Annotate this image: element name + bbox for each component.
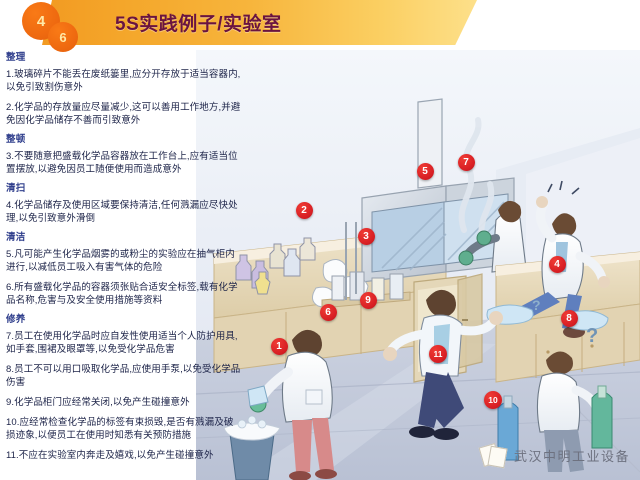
rule-item: 7.员工在使用化学品时应自发性使用适当个人防护用具,如手套,围裙及眼罩等,以免受…	[6, 330, 242, 356]
rule-item: 10.应经常检查化学品的标签有束损毁,是否有溅漏及破损迹象,以便员工在使用时知悉…	[6, 416, 242, 442]
company-name: 武汉中明工业设备	[514, 446, 630, 465]
illustration-marker-5: 5	[417, 163, 434, 180]
svg-text:?: ?	[532, 297, 541, 313]
section-heading: 清扫	[6, 183, 242, 195]
illustration-marker-7: 7	[458, 154, 475, 171]
rule-item: 11.不应在实验室内奔走及嬉戏,以免产生碰撞意外	[6, 449, 242, 462]
rules-section: 整顿3.不要随意把盛载化学品容器放在工作台上,应有适当位置摆放,以避免因员工随便…	[6, 134, 242, 176]
illustration-marker-6: 6	[320, 304, 337, 321]
rules-text-column: 整理1.玻璃碎片不能丢在废纸篓里,应分开存放于适当容器内,以免引致割伤意外2.化…	[6, 52, 242, 476]
svg-text:?: ?	[586, 325, 598, 347]
illustration-marker-1: 1	[271, 338, 288, 355]
rules-section: 清洁5.凡可能产生化学品烟雾的或粉尘的实验应在抽气柜内进行,以减低员工吸入有害气…	[6, 232, 242, 307]
logo-card-front	[487, 446, 507, 469]
rule-item: 4.化学品储存及使用区域要保持清洁,任何溅漏应尽快处理,以免引致意外滑倒	[6, 199, 242, 225]
rule-item: 6.所有盛载化学品的容器须张贴合适安全标签,载有化学品名称,危害与及安全使用措施…	[6, 281, 242, 307]
illustration-marker-4: 4	[549, 256, 566, 273]
illustration-marker-3: 3	[358, 228, 375, 245]
laboratory-illustration: ? ? 1234567891011	[196, 42, 640, 480]
rules-section: 整理1.玻璃碎片不能丢在废纸篓里,应分开存放于适当容器内,以免引致割伤意外2.化…	[6, 52, 242, 127]
illustration-marker-2: 2	[296, 202, 313, 219]
illustration-marker-11: 11	[429, 345, 447, 363]
rules-section: 修养7.员工在使用化学品时应自发性使用适当个人防护用具,如手套,围裙及眼罩等,以…	[6, 314, 242, 462]
rule-item: 1.玻璃碎片不能丢在废纸篓里,应分开存放于适当容器内,以免引致割伤意外	[6, 68, 242, 94]
rule-item: 5.凡可能产生化学品烟雾的或粉尘的实验应在抽气柜内进行,以减低员工吸入有害气体的…	[6, 248, 242, 274]
illustration-marker-10: 10	[484, 391, 502, 409]
rules-section: 清扫4.化学品储存及使用区域要保持清洁,任何溅漏应尽快处理,以免引致意外滑倒	[6, 183, 242, 225]
rule-item: 8.员工不可以用口吸取化学品,应使用手泵,以免受化学品伤害	[6, 363, 242, 389]
rule-item: 3.不要随意把盛载化学品容器放在工作台上,应有适当位置摆放,以避免因员工随便使用…	[6, 150, 242, 176]
rule-item: 2.化学品的存放量应尽量减少,这可以善用工作地方,并避免因化学品储存不善而引致意…	[6, 101, 242, 127]
rule-item: 9.化学品柜门应经常关闭,以免产生碰撞意外	[6, 396, 242, 409]
section-heading: 整理	[6, 52, 242, 64]
section-heading: 修养	[6, 314, 242, 326]
company-watermark: 武汉中明工业设备	[481, 442, 630, 468]
section-heading: 整顿	[6, 134, 242, 146]
section-heading: 清洁	[6, 232, 242, 244]
header-badge-6: 6	[48, 22, 78, 52]
company-card-logo	[481, 442, 507, 468]
poster-root: ? ? 1234567891011 5S实践例子/实验室 4 6 整理1.玻璃碎…	[0, 0, 640, 480]
illustration-marker-8: 8	[561, 310, 578, 327]
illustration-marker-9: 9	[360, 292, 377, 309]
page-title: 5S实践例子/实验室	[0, 0, 640, 45]
illustration-artwork: ? ?	[196, 42, 640, 480]
